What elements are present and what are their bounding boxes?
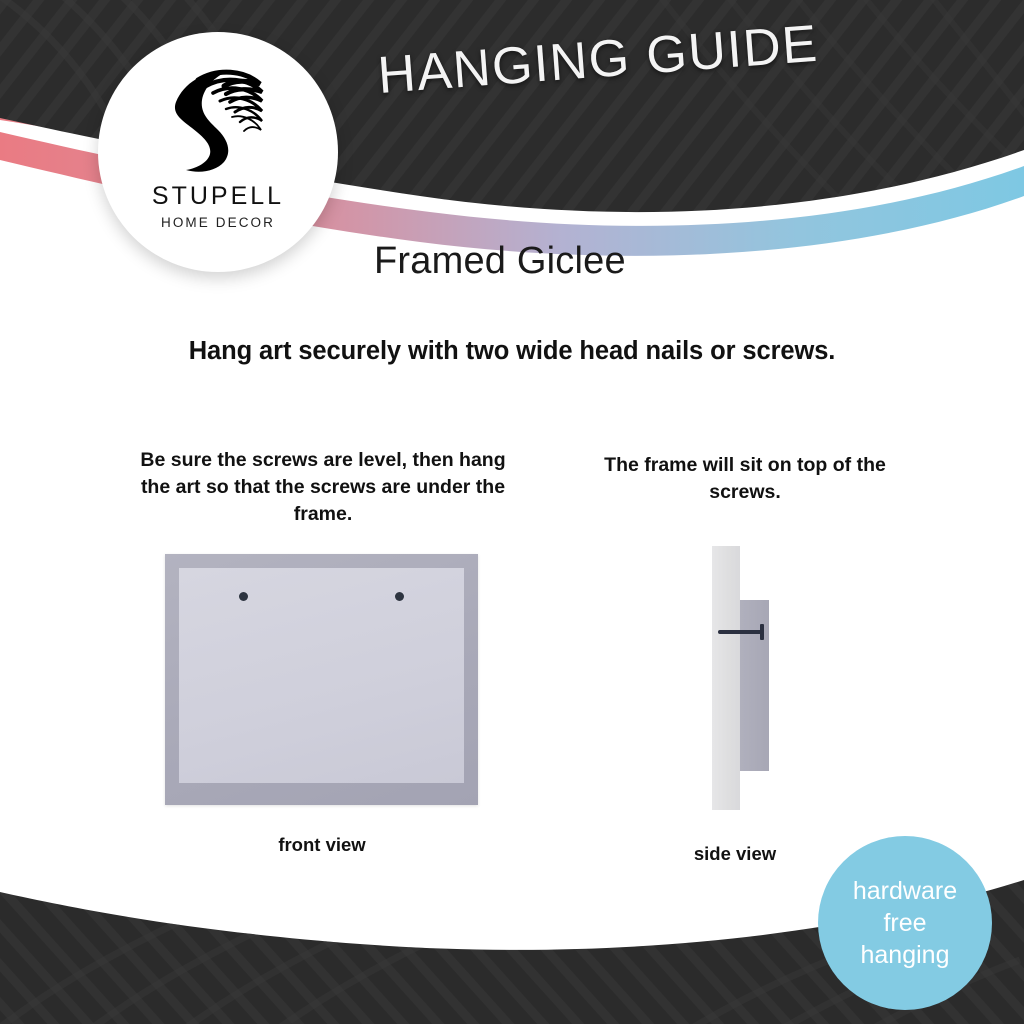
brand-logo-badge: STUPELL HOME DECOR [98, 32, 338, 272]
product-type-subtitle: Framed Giclee [374, 240, 626, 283]
brand-name: STUPELL [152, 184, 284, 209]
screw-dot-left-icon [239, 592, 248, 601]
nail-head-icon [760, 624, 764, 640]
badge-line-1: hardware [853, 875, 957, 907]
badge-line-3: hanging [861, 939, 950, 971]
stupell-swoosh-icon [162, 58, 274, 180]
nail-shaft-icon [718, 630, 762, 634]
brand-tagline: HOME DECOR [161, 216, 275, 230]
side-view-frame [740, 600, 769, 771]
badge-line-2: free [883, 907, 926, 939]
main-instruction-text: Hang art securely with two wide head nai… [0, 337, 1024, 366]
hardware-free-hanging-badge: hardware free hanging [818, 836, 992, 1010]
side-view-caption: The frame will sit on top of the screws. [590, 452, 900, 506]
side-view-label: side view [660, 843, 810, 865]
front-view-label: front view [200, 834, 444, 856]
screw-dot-right-icon [395, 592, 404, 601]
side-view-diagram [710, 546, 820, 812]
hanging-guide-page: STUPELL HOME DECOR HANGING GUIDE Framed … [0, 0, 1024, 1024]
front-view-caption: Be sure the screws are level, then hang … [140, 447, 506, 528]
front-view-mat [179, 568, 464, 783]
front-view-frame-diagram [165, 554, 478, 805]
page-title: HANGING GUIDE [376, 14, 821, 106]
side-view-wall [712, 546, 740, 810]
